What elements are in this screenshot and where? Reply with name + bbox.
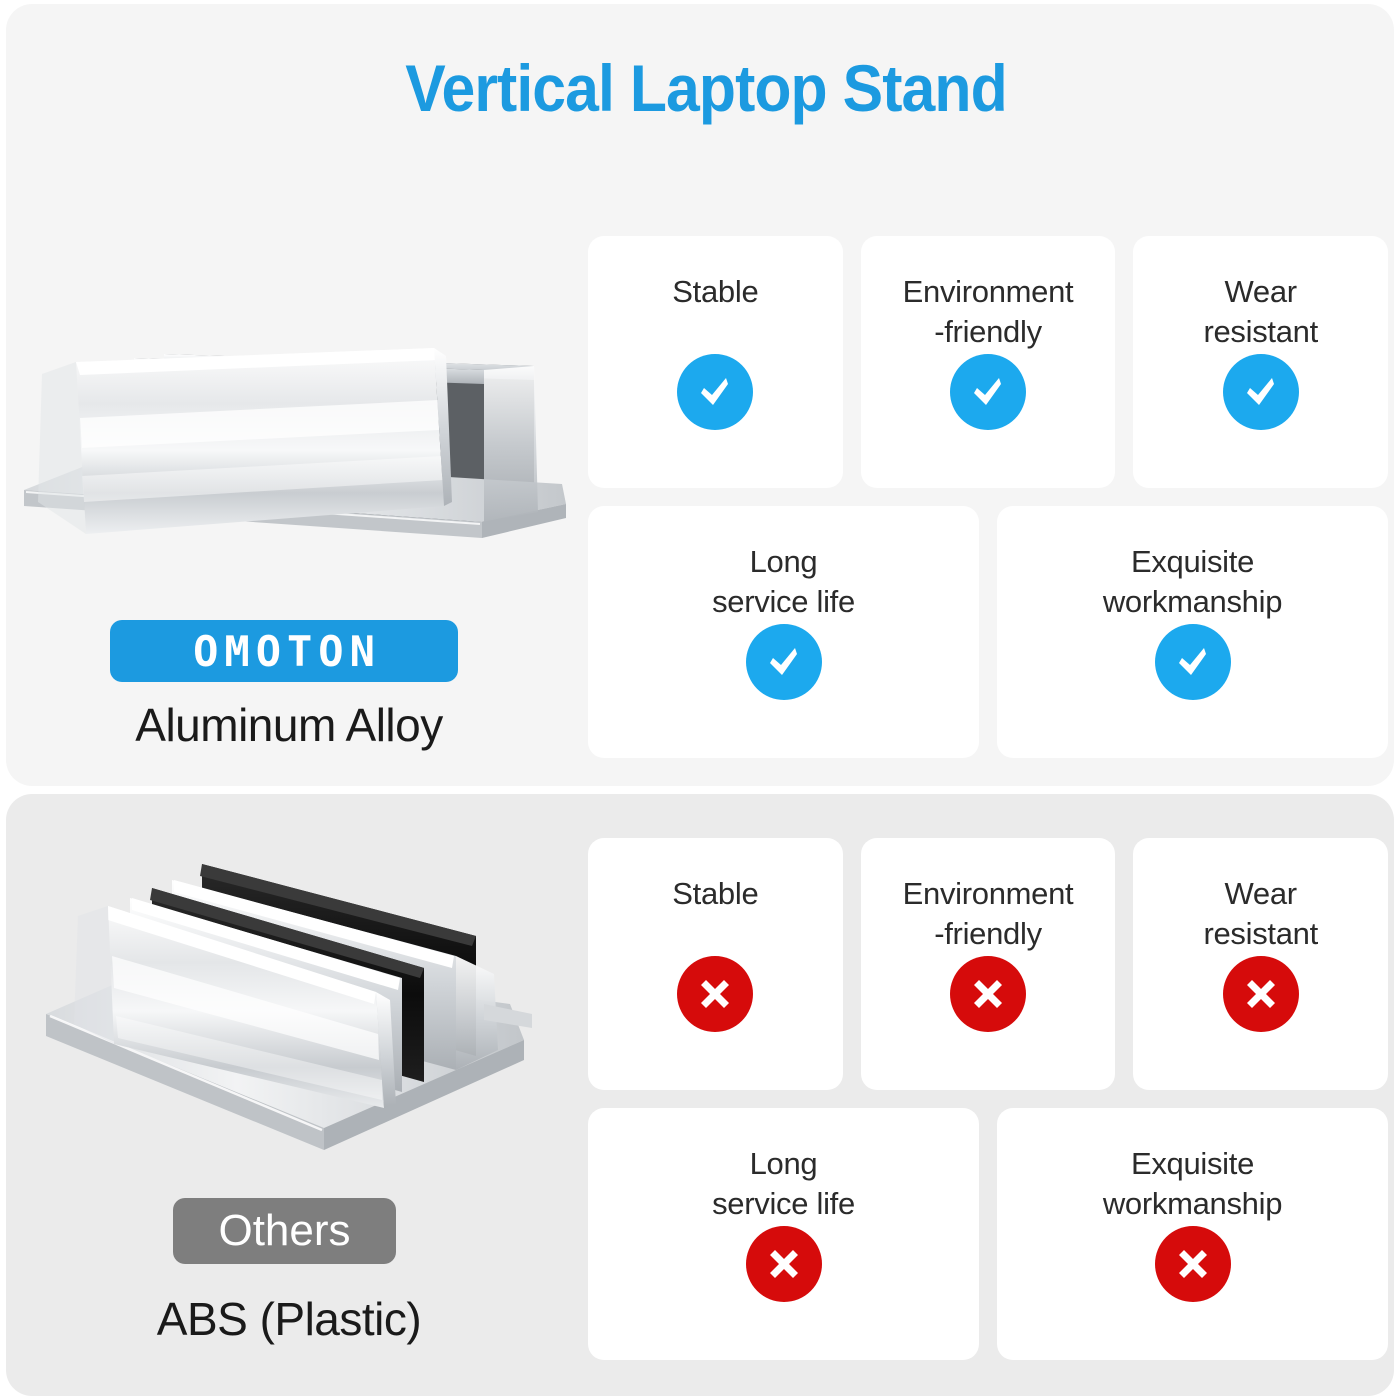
feature-grid-others: Stable Environment -friendly [588, 838, 1388, 1360]
cross-icon [950, 956, 1026, 1032]
feature-card-long-service-life[interactable]: Long service life [588, 1108, 979, 1360]
plastic-stand-image [24, 828, 552, 1168]
check-icon [1223, 354, 1299, 430]
feature-card-exquisite-workmanship[interactable]: Exquisite workmanship [997, 1108, 1388, 1360]
cross-icon [746, 1226, 822, 1302]
material-caption-omoton: Aluminum Alloy [6, 698, 572, 752]
feature-row-2: Long service life Exquisite workmanship [588, 506, 1388, 758]
check-icon [1155, 624, 1231, 700]
feature-label: Long service life [712, 542, 855, 622]
feature-label: Wear resistant [1203, 874, 1317, 954]
feature-card-stable[interactable]: Stable [588, 838, 843, 1090]
comparison-panel-others: Others ABS (Plastic) Stable Environment … [6, 794, 1394, 1396]
feature-row-2: Long service life Exquisite workmanship [588, 1108, 1388, 1360]
material-caption-others: ABS (Plastic) [6, 1292, 572, 1346]
feature-label: Environment -friendly [903, 874, 1074, 954]
feature-card-wear-resistant[interactable]: Wear resistant [1133, 838, 1388, 1090]
feature-grid-omoton: Stable Environment -friendly [588, 236, 1388, 758]
check-icon [677, 354, 753, 430]
feature-card-environment-friendly[interactable]: Environment -friendly [861, 236, 1116, 488]
feature-label: Long service life [712, 1144, 855, 1224]
infographic-page: Vertical Laptop Stand [0, 0, 1400, 1400]
check-icon [950, 354, 1026, 430]
comparison-panel-omoton: Vertical Laptop Stand [6, 4, 1394, 786]
feature-card-exquisite-workmanship[interactable]: Exquisite workmanship [997, 506, 1388, 758]
feature-label: Environment -friendly [903, 272, 1074, 352]
brand-badge-others: Others [173, 1198, 396, 1264]
cross-icon [677, 956, 753, 1032]
feature-label: Exquisite workmanship [1103, 1144, 1282, 1224]
product-column-others: Others ABS (Plastic) [6, 794, 572, 1396]
feature-label: Exquisite workmanship [1103, 542, 1282, 622]
feature-label: Wear resistant [1203, 272, 1317, 352]
feature-label: Stable [672, 272, 758, 312]
aluminum-stand-image [14, 326, 574, 594]
feature-card-environment-friendly[interactable]: Environment -friendly [861, 838, 1116, 1090]
feature-row-1: Stable Environment -friendly [588, 838, 1388, 1090]
cross-icon [1155, 1226, 1231, 1302]
feature-card-stable[interactable]: Stable [588, 236, 843, 488]
feature-row-1: Stable Environment -friendly [588, 236, 1388, 488]
feature-label: Stable [672, 874, 758, 914]
feature-card-wear-resistant[interactable]: Wear resistant [1133, 236, 1388, 488]
feature-card-long-service-life[interactable]: Long service life [588, 506, 979, 758]
cross-icon [1223, 956, 1299, 1032]
check-icon [746, 624, 822, 700]
brand-badge-omoton: OMOTON [110, 620, 458, 682]
page-title: Vertical Laptop Stand [62, 50, 1350, 126]
